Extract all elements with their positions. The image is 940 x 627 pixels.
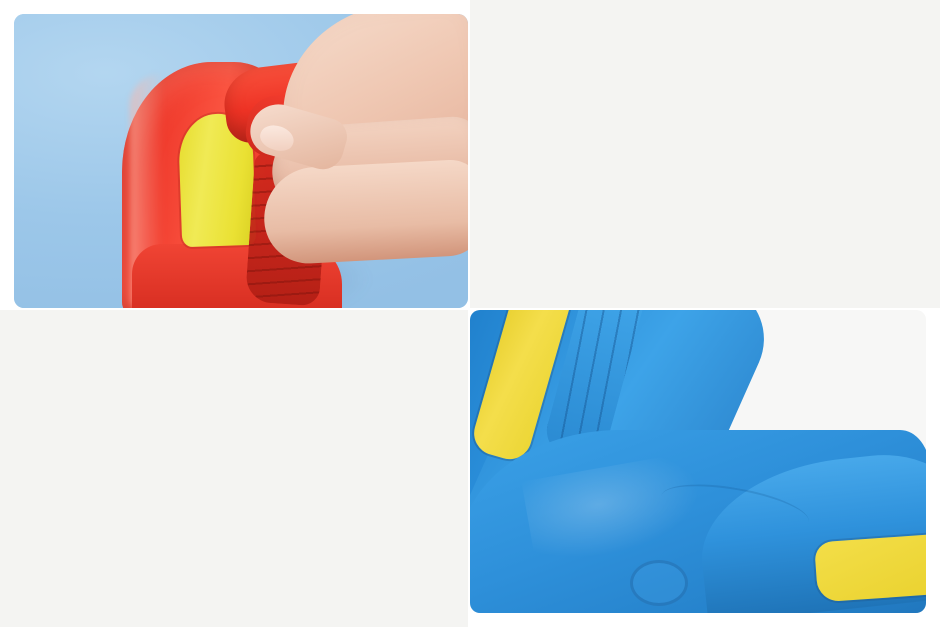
feature-panel-soft-material: Soft material Soft material, no pain if … [0, 310, 468, 627]
photo-red-foam-bend [14, 14, 468, 308]
photo-blue-foam-closeup [470, 310, 926, 613]
molded-circle-detail [630, 560, 688, 606]
infographic-page: EVA foam material EVA foam material has … [0, 0, 940, 627]
middle-finger [262, 158, 468, 265]
feature-panel-eva-foam: EVA foam material EVA foam material has … [470, 0, 940, 308]
yellow-grip-pad-right [814, 534, 926, 603]
